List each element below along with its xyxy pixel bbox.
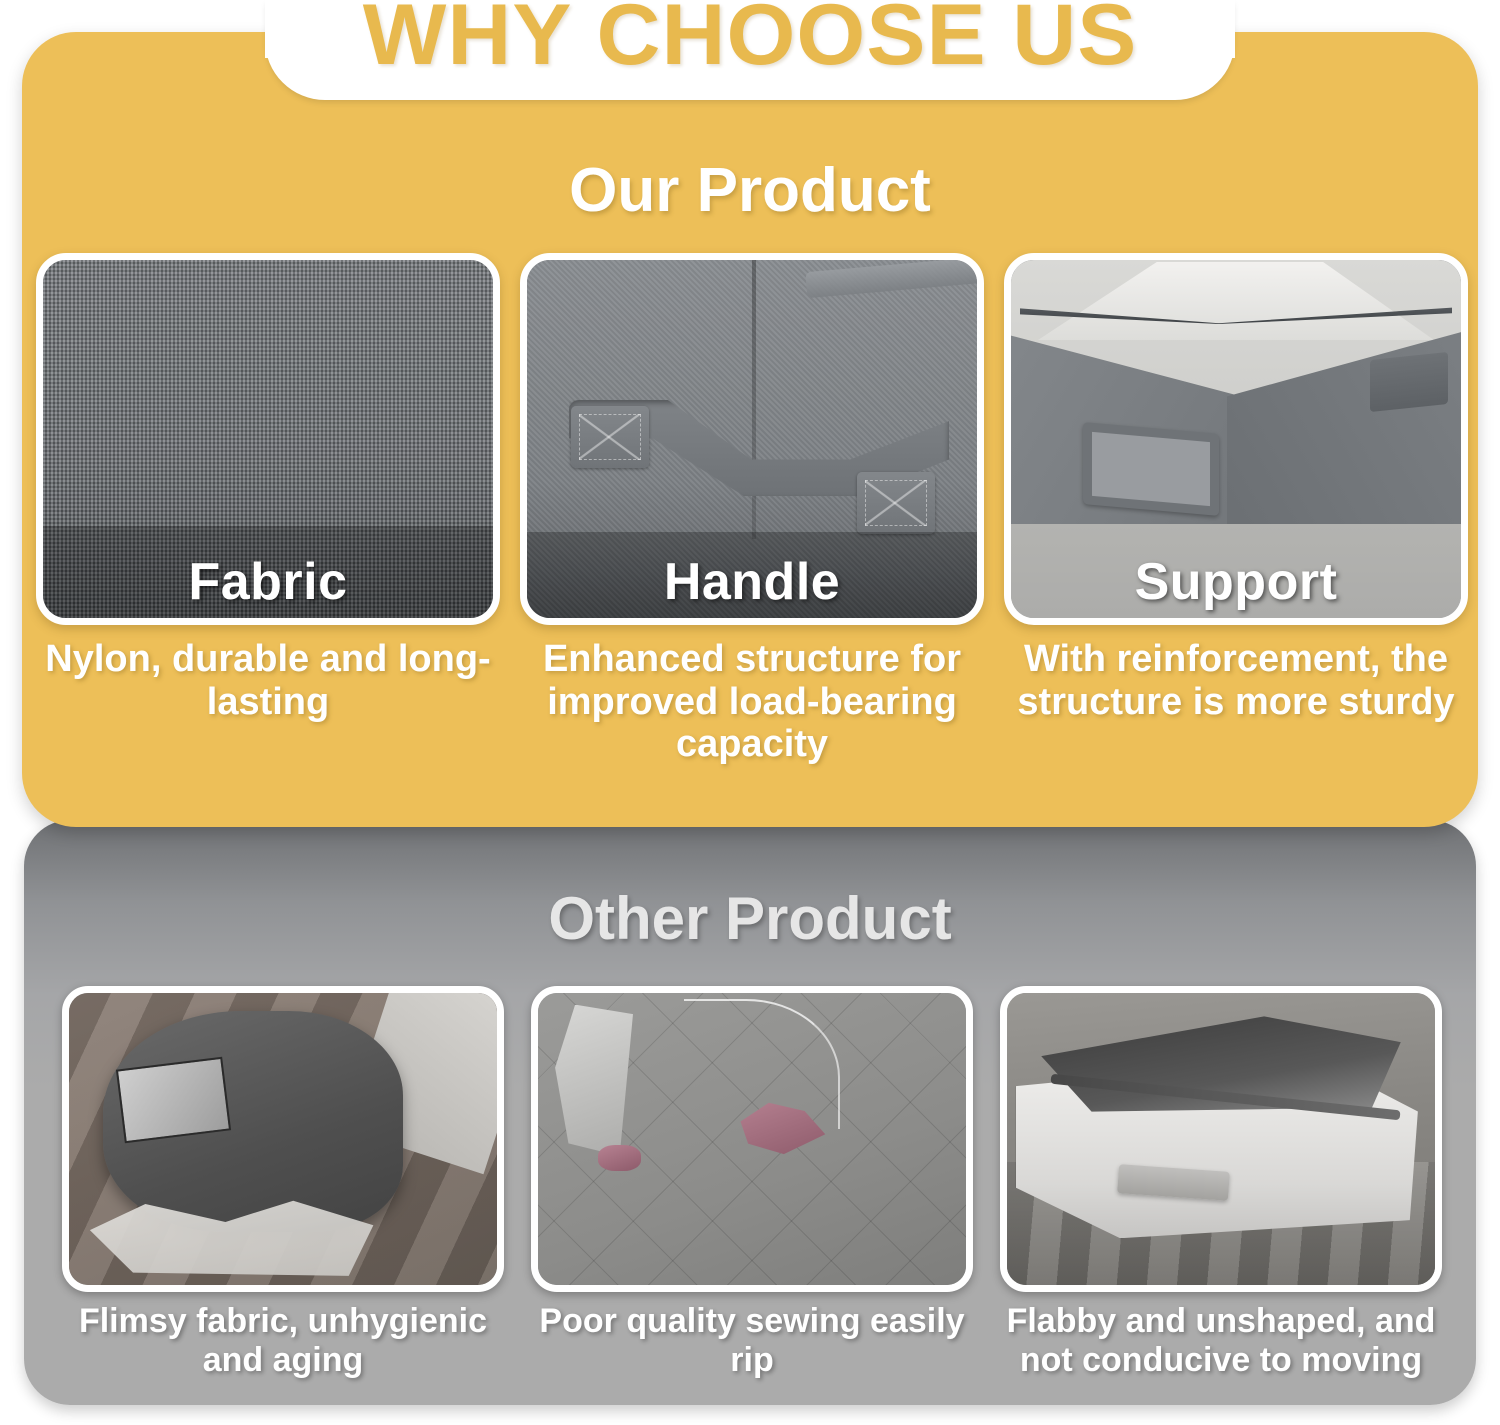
banner-title: WHY CHOOSE US <box>0 0 1500 85</box>
caption-handle: Enhanced structure for improved load-bea… <box>520 638 984 766</box>
caption-flimsy-fabric: Flimsy fabric, unhygienic and aging <box>62 1302 504 1381</box>
other-product-photo-poor-sewing <box>531 986 973 1292</box>
poor-sewing-image <box>538 993 966 1285</box>
caption-fabric: Nylon, durable and long-lasting <box>36 638 500 766</box>
our-product-captions: Nylon, durable and long-lasting Enhanced… <box>36 638 1468 766</box>
our-product-heading: Our Product <box>0 155 1500 226</box>
flabby-bag-image <box>1007 993 1435 1285</box>
clear-window-panel <box>116 1057 231 1144</box>
support-label-window <box>1083 422 1219 516</box>
other-product-captions: Flimsy fabric, unhygienic and aging Poor… <box>62 1302 1442 1381</box>
our-product-card-fabric: Fabric <box>36 253 500 625</box>
our-product-card-support: Support <box>1004 253 1468 625</box>
handle-seam <box>752 260 756 539</box>
card-label-fabric: Fabric <box>43 552 493 612</box>
handle-patch-left <box>571 406 649 468</box>
other-product-photo-flabby-bag <box>1000 986 1442 1292</box>
other-product-photo-flimsy-fabric <box>62 986 504 1292</box>
our-product-card-handle: Handle <box>520 253 984 625</box>
other-product-heading: Other Product <box>0 884 1500 953</box>
support-side-handle <box>1370 352 1448 412</box>
card-label-support: Support <box>1011 552 1461 612</box>
infographic-root: WHY CHOOSE US Our Product Fabric Handle <box>0 0 1500 1425</box>
caption-support: With reinforcement, the structure is mor… <box>1004 638 1468 766</box>
flimsy-fabric-image <box>69 993 497 1285</box>
handle-top-rim <box>805 256 984 298</box>
fabric-rip-small <box>598 1145 641 1171</box>
card-label-handle: Handle <box>527 552 977 612</box>
handle-patch-right <box>857 472 935 534</box>
support-lid <box>1038 262 1434 340</box>
other-product-card-grid <box>62 986 1442 1292</box>
our-product-card-grid: Fabric Handle Support <box>36 253 1468 625</box>
caption-flabby-bag: Flabby and unshaped, and not conducive t… <box>1000 1302 1442 1381</box>
caption-poor-sewing: Poor quality sewing easily rip <box>531 1302 973 1381</box>
